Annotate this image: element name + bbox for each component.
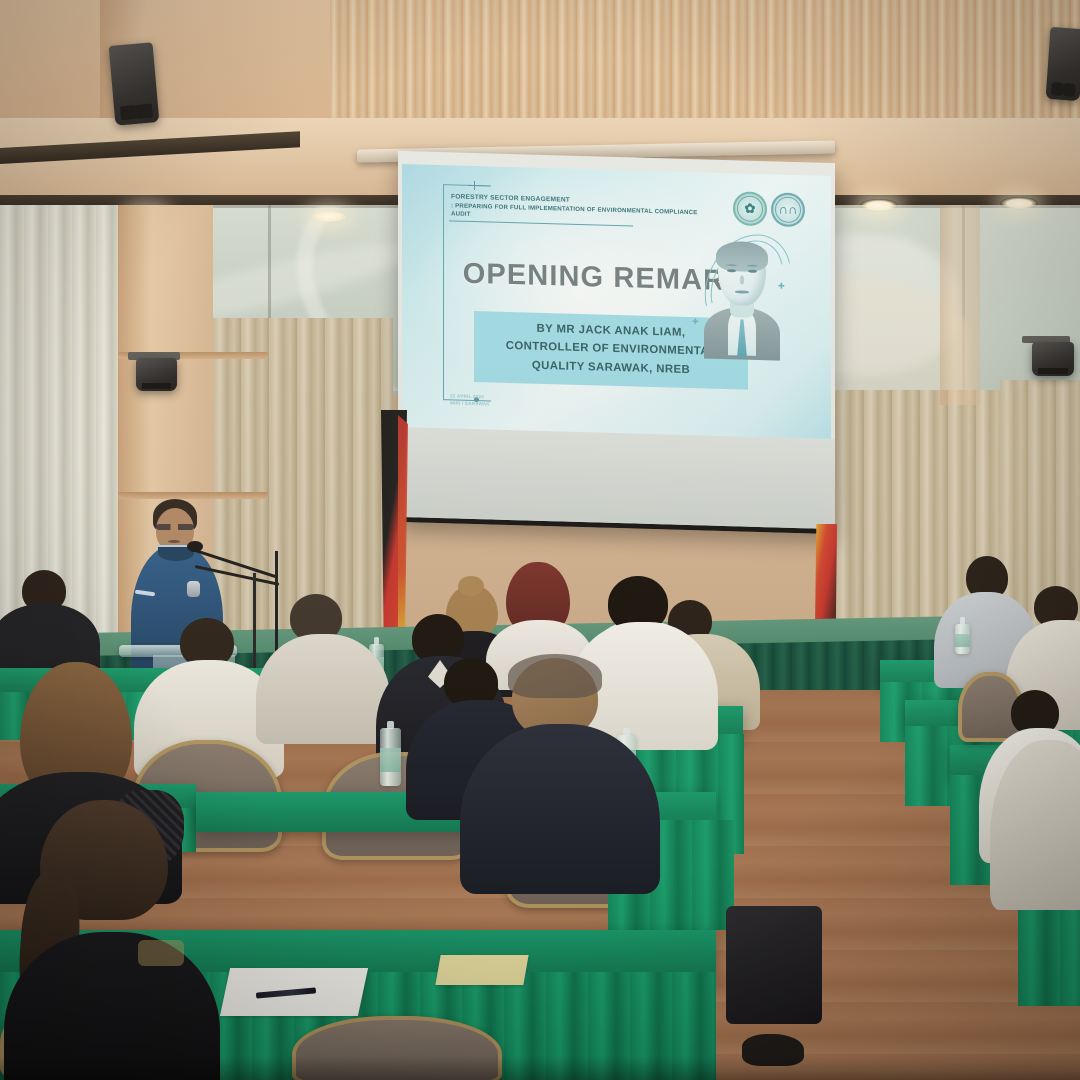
- speaker-mouth: [168, 540, 180, 543]
- torso: [460, 724, 660, 894]
- speaker-glasses: [156, 524, 194, 530]
- wall-speaker-top-left: [109, 42, 160, 126]
- wall-panel-right: [940, 205, 980, 405]
- wall-speaker-top-right: [1046, 27, 1080, 101]
- torso: [256, 634, 390, 744]
- downlight: [860, 199, 898, 212]
- stage-seated-attendee: [0, 570, 110, 660]
- portrait-eye-right: [748, 270, 757, 273]
- upper-wall-left: [0, 0, 330, 125]
- portrait-nose: [740, 275, 744, 284]
- bottle-label: [955, 634, 970, 647]
- ministry-logo-icon: ∩∩: [771, 192, 805, 227]
- wall-speaker-mid-left: [136, 358, 177, 391]
- presentation-slide: FORESTRY SECTOR ENGAGEMENT : PREPARING F…: [402, 164, 831, 439]
- nreb-logo-mark: ✿: [733, 191, 767, 226]
- ministry-logo-mark: ∩∩: [771, 192, 805, 227]
- attendee-center-grey: [268, 594, 378, 734]
- attendee-right-lower: [1000, 740, 1080, 920]
- shoulder-detail: [138, 940, 184, 966]
- projection-screen: FORESTRY SECTOR ENGAGEMENT : PREPARING F…: [398, 151, 835, 534]
- torso: [990, 740, 1080, 910]
- attendee-center-balding: [478, 658, 638, 868]
- speaker-badge: [187, 581, 200, 597]
- projection-screen-blank-area: [398, 427, 835, 529]
- speaker-portrait-illustration: ✚ ✚: [698, 228, 786, 362]
- microphone-head-1: [187, 541, 203, 552]
- portrait-hair: [716, 241, 768, 272]
- wall-speaker-mid-right: [1032, 342, 1074, 376]
- water-bottle: [380, 728, 401, 786]
- nreb-logo-icon: ✿: [733, 191, 767, 226]
- downlight: [1000, 197, 1038, 210]
- bottle-label: [380, 748, 401, 772]
- yellow-notepad: [435, 955, 528, 985]
- backpack: [726, 906, 822, 1024]
- downlight: [310, 210, 348, 223]
- hair: [508, 654, 602, 698]
- attendee-front-left-ponytail: [10, 800, 240, 1080]
- portrait-star-left: ✚: [692, 318, 699, 326]
- conference-hall-photo: FORESTRY SECTOR ENGAGEMENT : PREPARING F…: [0, 0, 1080, 1080]
- portrait-mouth: [735, 290, 749, 293]
- hair-bun: [458, 576, 484, 596]
- slide-corner-frame: [443, 184, 444, 400]
- water-bottle: [955, 624, 970, 654]
- portrait-eye-left: [727, 269, 736, 272]
- acoustic-ceiling-panels: [330, 0, 1080, 122]
- portrait-star-right: ✚: [778, 283, 785, 291]
- corner-shadow: [0, 1056, 1080, 1080]
